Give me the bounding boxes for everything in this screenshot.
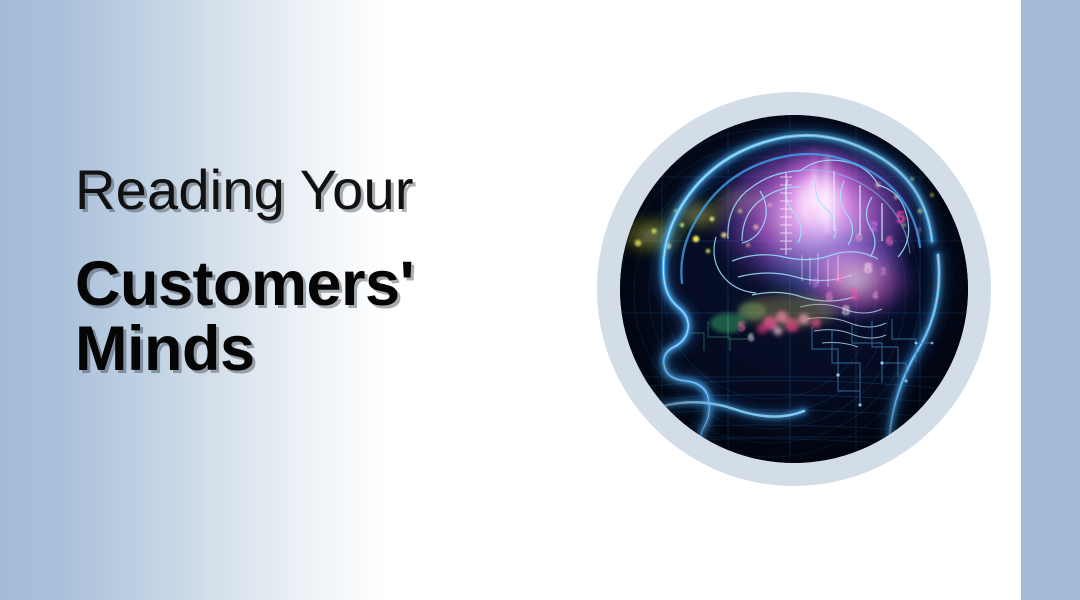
slide-canvas: Reading Your Customers' Minds: [0, 0, 1080, 600]
headline-line-1: Reading Your: [75, 160, 595, 220]
headline-line-3: Minds: [75, 317, 595, 382]
image-ring-frame: 5 6 2 0 8 3 8 1 6 8 9 4 5: [597, 92, 991, 486]
right-accent-bar: [1021, 0, 1080, 600]
brain-ai-illustration: 5 6 2 0 8 3 8 1 6 8 9 4 5: [620, 115, 968, 463]
headline-line-2: Customers': [75, 252, 595, 317]
headline-block: Reading Your Customers' Minds: [75, 160, 595, 382]
